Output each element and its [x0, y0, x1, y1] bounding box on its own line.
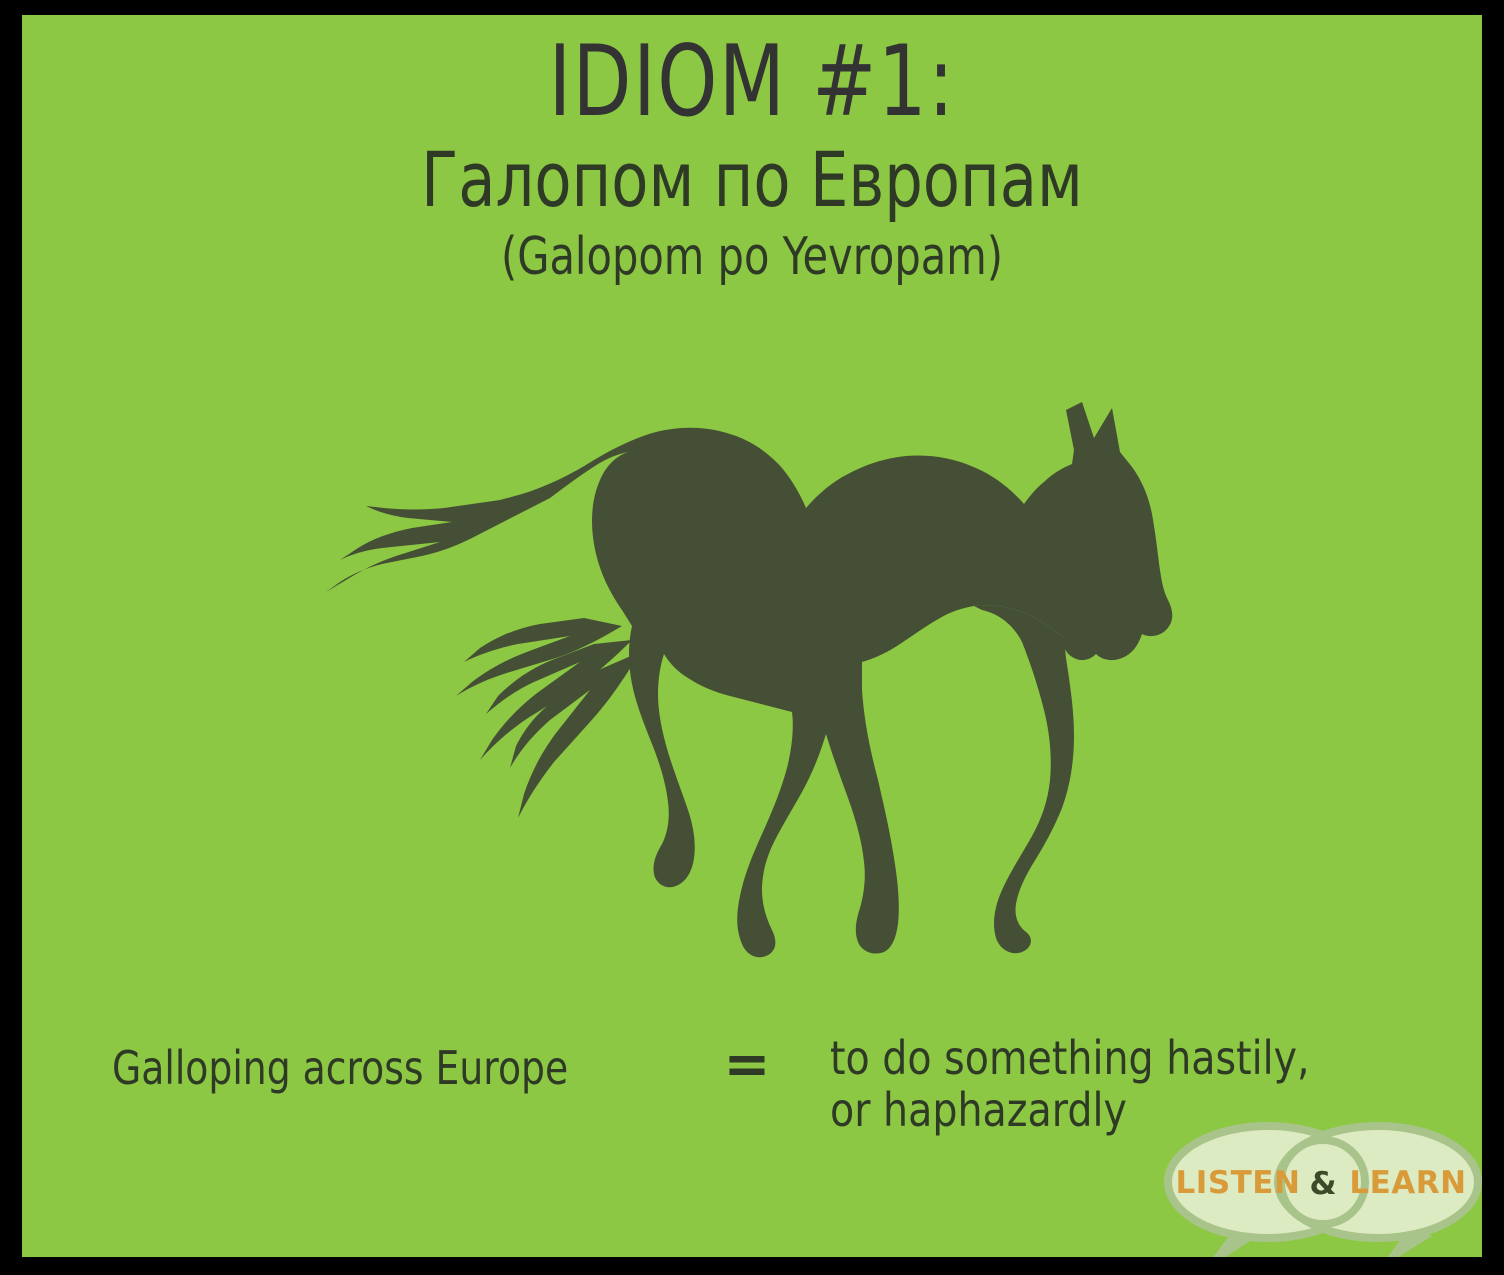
- idiom-cyrillic: Галопом по Европам: [168, 139, 1336, 221]
- poster-card: IDIOM #1: Галопом по Европам (Galopom po…: [22, 15, 1482, 1257]
- logo-ampersand: &: [1309, 1166, 1336, 1202]
- heading-block: IDIOM #1: Галопом по Европам (Galopom po…: [22, 33, 1482, 286]
- idiom-transliteration: (Galopom po Yevropam): [168, 229, 1336, 286]
- horse-silhouette-illustration: [322, 390, 1182, 960]
- poster-root: IDIOM #1: Галопом по Европам (Galopom po…: [0, 0, 1504, 1275]
- equals-sign: =: [717, 1037, 777, 1093]
- logo-word-listen: LISTEN: [1176, 1165, 1301, 1201]
- listen-and-learn-logo[interactable]: LISTEN & LEARN: [1150, 1120, 1482, 1257]
- literal-meaning-text: Galloping across Europe: [112, 1041, 568, 1095]
- page-title: IDIOM #1:: [183, 33, 1322, 133]
- logo-word-learn: LEARN: [1349, 1165, 1466, 1201]
- definition-line-1: to do something hastily,: [830, 1033, 1329, 1085]
